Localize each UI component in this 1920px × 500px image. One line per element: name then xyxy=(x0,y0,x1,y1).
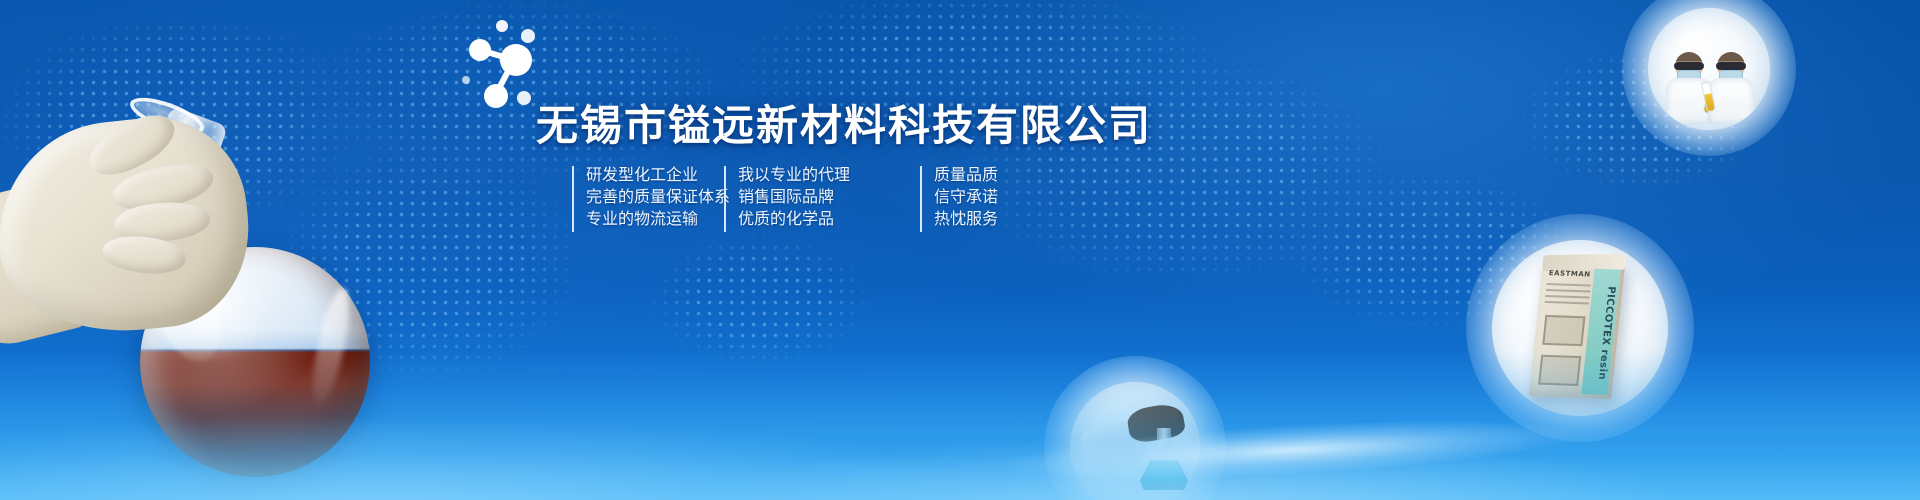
lab-coat xyxy=(1708,78,1754,124)
divider-bar xyxy=(572,166,574,232)
bag-print-lines xyxy=(1544,283,1591,308)
resin-bag-photo: EASTMAN PICCOTEX resin xyxy=(1492,240,1668,416)
hand-conical-flask-photo xyxy=(1070,382,1200,500)
safety-goggles-icon xyxy=(1716,62,1746,70)
lab-scientists-photo xyxy=(1648,8,1770,130)
slogan-column-2: 我以专业的代理 销售国际品牌 优质的化学品 xyxy=(724,164,920,230)
slogan-line: 信守承诺 xyxy=(934,186,1040,208)
safety-goggles-icon xyxy=(1674,62,1704,70)
slogan-line: 研发型化工企业 xyxy=(586,164,724,186)
company-banner: 无锡市镒远新材料科技有限公司 研发型化工企业 完善的质量保证体系 专业的物流运输… xyxy=(0,0,1920,500)
divider-bar xyxy=(724,166,726,232)
conical-flask-icon xyxy=(1140,428,1188,490)
bag-brand-top: EASTMAN xyxy=(1548,269,1591,278)
slogan-line: 完善的质量保证体系 xyxy=(586,186,724,208)
slogan-column-1: 研发型化工企业 完善的质量保证体系 专业的物流运输 xyxy=(572,164,724,230)
slogan-line: 质量品质 xyxy=(934,164,1040,186)
slogan-line: 我以专业的代理 xyxy=(738,164,920,186)
bag-print-box xyxy=(1542,315,1585,346)
bubble-disc: EASTMAN PICCOTEX resin xyxy=(1492,240,1668,416)
bag-print-box xyxy=(1538,355,1581,386)
resin-paper-sack: EASTMAN PICCOTEX resin xyxy=(1529,261,1625,399)
gloved-hand-round-bottom-flask-image xyxy=(0,95,410,500)
slogan-line: 专业的物流运输 xyxy=(586,208,724,230)
bubble-disc xyxy=(1070,382,1200,500)
slogan-line: 优质的化学品 xyxy=(738,208,920,230)
bubble-disc xyxy=(1648,8,1770,130)
slogan-line: 销售国际品牌 xyxy=(738,186,920,208)
slogan-column-3: 质量品质 信守承诺 热忱服务 xyxy=(920,164,1040,230)
slogan-line: 热忱服务 xyxy=(934,208,1040,230)
scientist-figure xyxy=(1708,52,1754,124)
company-title: 无锡市镒远新材料科技有限公司 xyxy=(536,92,1152,153)
flask-body-with-cyan-liquid xyxy=(1140,448,1188,490)
divider-bar xyxy=(920,166,922,232)
slogan-columns: 研发型化工企业 完善的质量保证体系 专业的物流运输 我以专业的代理 销售国际品牌… xyxy=(572,164,1040,230)
